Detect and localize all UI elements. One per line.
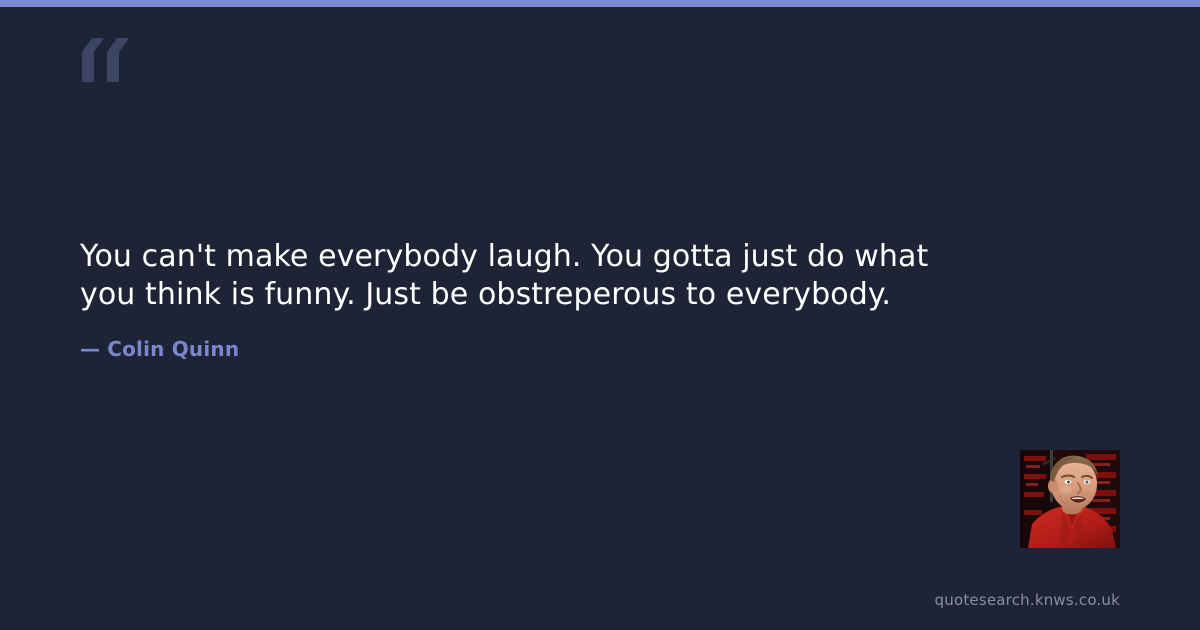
top-accent-bar [0,0,1200,7]
quote-text: You can't make everybody laugh. You gott… [80,238,990,314]
double-quote-icon [80,38,132,82]
quote-card: You can't make everybody laugh. You gott… [0,0,1200,630]
quote-author: —Colin Quinn [80,314,1080,362]
author-name: Colin Quinn [107,337,239,361]
author-dash: — [80,337,100,361]
quote-block: You can't make everybody laugh. You gott… [80,238,1080,362]
author-portrait-image[interactable] [1020,450,1120,548]
site-watermark: quotesearch.knws.co.uk [935,590,1120,610]
